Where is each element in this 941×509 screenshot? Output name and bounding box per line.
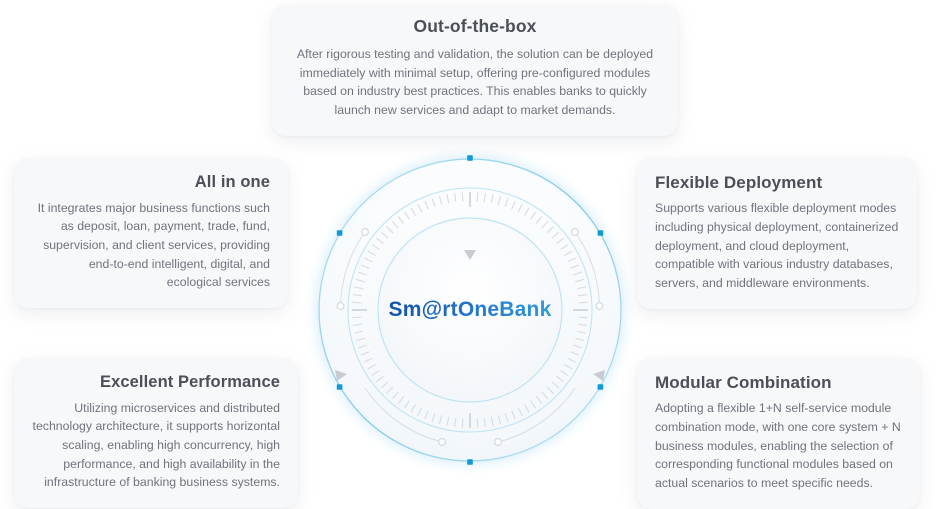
card-out-of-the-box[interactable]: Out-of-the-box After rigorous testing an… <box>272 4 678 136</box>
card-excellent-performance[interactable]: Excellent Performance Utilizing microser… <box>14 358 298 508</box>
card-body: Adopting a flexible 1+N self-service mod… <box>655 399 902 492</box>
card-body: After rigorous testing and validation, t… <box>290 45 660 120</box>
card-flexible-deployment[interactable]: Flexible Deployment Supports various fle… <box>637 158 917 309</box>
infographic-stage: Sm@rtOneBank Out-of-the-box After rigoro… <box>0 0 941 500</box>
card-modular-combination[interactable]: Modular Combination Adopting a flexible … <box>637 358 920 509</box>
card-all-in-one[interactable]: All in one It integrates major business … <box>14 158 288 308</box>
inner-core <box>379 219 561 401</box>
card-title: Out-of-the-box <box>290 16 660 38</box>
card-title: Flexible Deployment <box>655 172 899 193</box>
central-circular-graphic: Sm@rtOneBank <box>298 138 642 482</box>
card-body: Utilizing microservices and distributed … <box>32 399 280 492</box>
card-body: It integrates major business functions s… <box>32 199 270 292</box>
circle-diagram-svg <box>298 138 642 482</box>
card-title: All in one <box>32 172 270 193</box>
card-title: Modular Combination <box>655 372 902 393</box>
card-body: Supports various flexible deployment mod… <box>655 199 899 292</box>
card-title: Excellent Performance <box>32 372 280 393</box>
